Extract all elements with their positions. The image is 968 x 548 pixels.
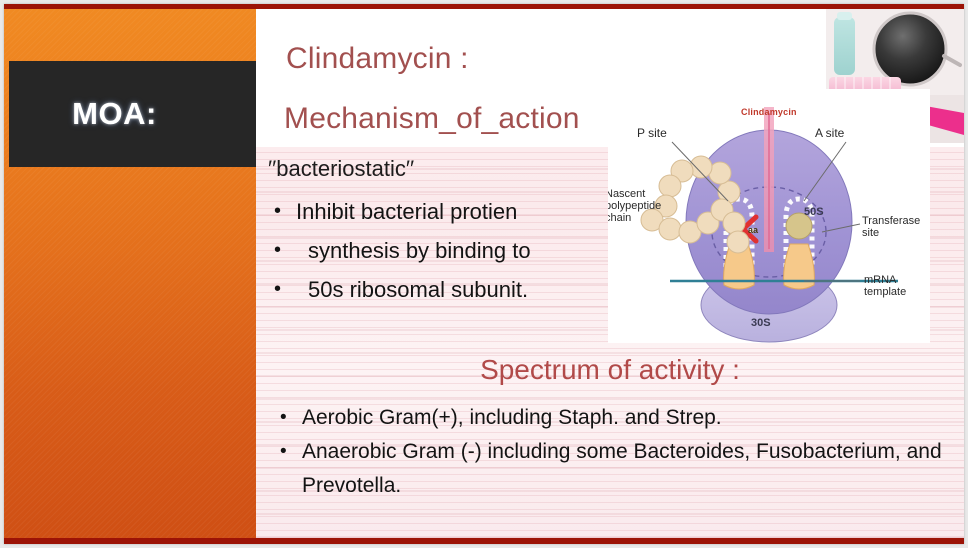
figure-label-p-site: P site (637, 127, 667, 139)
figure-label-transferase-site: Transferase site (862, 215, 930, 239)
spectrum-bullet-list: Aerobic Gram(+), including Staph. and St… (274, 401, 946, 503)
moa-bullet-list: Inhibit bacterial protien synthesis by b… (268, 192, 608, 309)
left-accent-panel: MOA: (4, 9, 256, 538)
moa-section-label: MOA: (72, 96, 193, 132)
bacteriostatic-descriptor: ′′bacteriostatic′′ (268, 156, 414, 182)
figure-label-a-site: A site (815, 127, 844, 139)
mechanism-title: Mechanism_of_action (284, 102, 580, 136)
figure-label-mrna-template: mRNA template (864, 274, 928, 298)
figure-label-nascent-chain: Nascent polypeptide chain (608, 188, 669, 224)
content-panel: Clindamycin : Mechanism_of_action ′′bact… (256, 9, 964, 538)
slide-bottom-border (4, 538, 964, 544)
figure-label-amino-acid: aa (748, 224, 758, 236)
figure-label-30s: 30S (751, 317, 771, 329)
moa-bullet-line: synthesis by binding to (268, 231, 608, 270)
moa-section-box: MOA: (9, 61, 256, 167)
moa-bullet-line: 50s ribosomal subunit. (268, 270, 608, 309)
ribosome-diagram: Clindamycin P site A site Nascent polype… (608, 89, 930, 343)
figure-label-clindamycin: Clindamycin (741, 106, 797, 118)
spectrum-bullet-item: Aerobic Gram(+), including Staph. and St… (274, 401, 946, 435)
moa-bullet-line: Inhibit bacterial protien (268, 192, 608, 231)
slide: MOA: Clindamycin : Mechanism_of_action ′… (4, 4, 964, 544)
figure-label-50s: 50S (804, 206, 824, 218)
spectrum-bullet-item: Anaerobic Gram (-) including some Bacter… (274, 435, 946, 503)
spectrum-heading: Spectrum of activity : (256, 354, 964, 386)
drug-title: Clindamycin : (286, 42, 469, 76)
